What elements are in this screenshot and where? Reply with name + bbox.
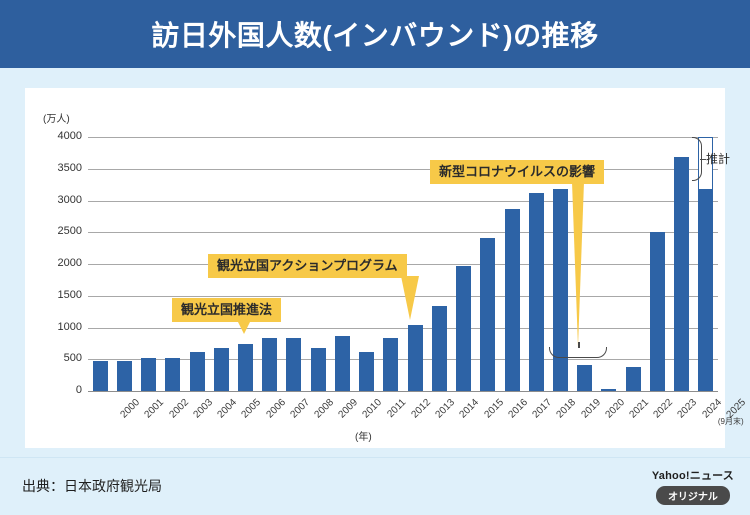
x-label-2025-note: (9月末) <box>718 416 744 427</box>
gridline-3000 <box>88 201 718 202</box>
bar-2013 <box>408 325 423 391</box>
brand-name: Yahoo!ニュース <box>652 467 734 483</box>
annotation-tourism-action-program-pointer <box>401 276 419 320</box>
page-title: 訪日外国人数(インバウンド)の推移 <box>151 14 598 54</box>
gridline-2500 <box>88 232 718 233</box>
bar-2018 <box>529 193 544 391</box>
annotation-tourism-promotion-law-pointer <box>237 320 251 334</box>
gridline-0 <box>88 391 718 392</box>
bar-2009 <box>311 348 326 391</box>
bar-2021 <box>601 389 616 391</box>
y-tick-0: 0 <box>36 384 82 396</box>
y-tick-500: 500 <box>36 352 82 364</box>
y-tick-2500: 2500 <box>36 225 82 237</box>
annotation-tourism-action-program: 観光立国アクションプログラム <box>208 254 407 278</box>
y-axis-unit-label: (万人) <box>43 110 70 125</box>
annotation-tourism-promotion-law: 観光立国推進法 <box>172 298 281 322</box>
x-axis-title: (年) <box>355 428 372 443</box>
bar-2023 <box>650 232 665 391</box>
y-tick-1000: 1000 <box>36 321 82 333</box>
source-text: 出典：日本政府観光局 <box>22 476 162 496</box>
y-tick-2000: 2000 <box>36 257 82 269</box>
bar-2014 <box>432 306 447 391</box>
annotation-covid-impact-pointer <box>572 182 584 347</box>
bar-2007 <box>262 338 277 391</box>
bar-2002 <box>141 358 156 391</box>
bar-2017 <box>505 209 520 391</box>
brand-badge: オリジナル <box>656 486 730 505</box>
bar-2003 <box>165 358 180 391</box>
gridline-3500 <box>88 169 718 170</box>
covid-period-brace <box>549 347 607 358</box>
bar-2020 <box>577 365 592 391</box>
page-footer: 出典：日本政府観光局 Yahoo!ニュース オリジナル <box>0 457 750 515</box>
bar-2012 <box>383 338 398 391</box>
bar-2010 <box>335 336 350 391</box>
y-tick-4000: 4000 <box>36 130 82 142</box>
bar-2015 <box>456 266 471 391</box>
y-tick-1500: 1500 <box>36 289 82 301</box>
gridline-500 <box>88 359 718 360</box>
estimate-label: 推計 <box>706 150 730 167</box>
bar-2016 <box>480 238 495 391</box>
bar-2000 <box>93 361 108 391</box>
y-tick-3000: 3000 <box>36 194 82 206</box>
bar-2025 <box>698 190 713 391</box>
bar-2008 <box>286 338 301 391</box>
brand-block: Yahoo!ニュース オリジナル <box>652 467 734 505</box>
bar-2004 <box>190 352 205 391</box>
bar-2001 <box>117 361 132 391</box>
bar-2006 <box>238 344 253 391</box>
bar-2022 <box>626 367 641 391</box>
estimate-brace <box>692 137 702 181</box>
bar-2011 <box>359 352 374 391</box>
gridline-1000 <box>88 328 718 329</box>
annotation-covid-impact: 新型コロナウイルスの影響 <box>430 160 604 184</box>
y-tick-3500: 3500 <box>36 162 82 174</box>
bar-2019 <box>553 189 568 391</box>
page-header: 訪日外国人数(インバウンド)の推移 <box>0 0 750 68</box>
gridline-4000 <box>88 137 718 138</box>
bar-2005 <box>214 348 229 391</box>
bar-2024 <box>674 157 689 391</box>
